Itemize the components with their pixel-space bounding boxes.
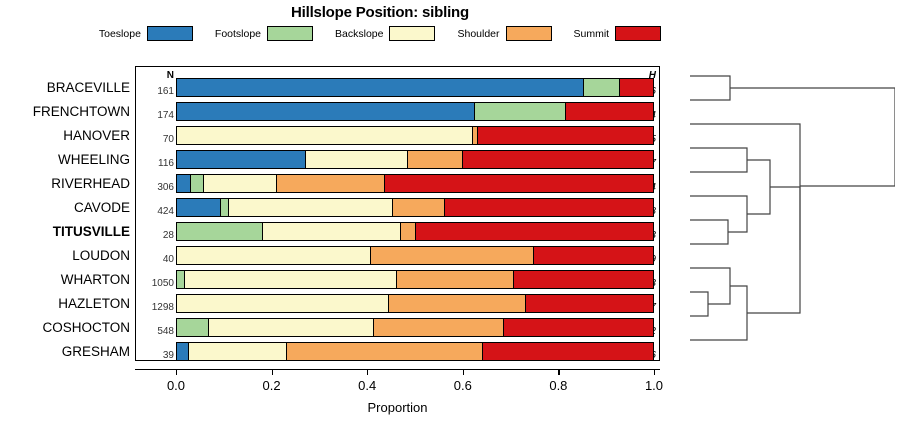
legend-label: Summit	[574, 28, 610, 40]
stacked-bar-frenchtown[interactable]	[176, 102, 654, 121]
bar-segment-shoulder[interactable]	[276, 175, 385, 192]
x-axis-line	[135, 369, 660, 370]
bar-segment-footslope[interactable]	[474, 103, 565, 120]
bar-segment-backslope[interactable]	[262, 223, 400, 240]
bar-segment-backslope[interactable]	[228, 199, 392, 216]
row-label-titusville: TITUSVILLE	[0, 225, 130, 239]
row-n-value: 116	[141, 158, 174, 169]
row-label-wheeling: WHEELING	[0, 153, 130, 167]
row-label-loudon: LOUDON	[0, 249, 130, 263]
bar-segment-summit[interactable]	[415, 223, 653, 240]
bar-segment-backslope[interactable]	[305, 151, 407, 168]
bar-segment-backslope[interactable]	[188, 343, 285, 360]
bar-segment-shoulder[interactable]	[392, 199, 444, 216]
legend-item-shoulder[interactable]: Shoulder	[457, 26, 551, 41]
bar-segment-summit[interactable]	[477, 127, 653, 144]
stacked-bar-coshocton[interactable]	[176, 318, 654, 337]
stacked-bar-cavode[interactable]	[176, 198, 654, 217]
bar-segment-toeslope[interactable]	[177, 343, 188, 360]
row-n-value: 174	[141, 110, 174, 121]
bar-segment-backslope[interactable]	[177, 127, 472, 144]
bar-segment-shoulder[interactable]	[396, 271, 513, 288]
bar-segment-footslope[interactable]	[583, 79, 620, 96]
bar-segment-summit[interactable]	[525, 295, 653, 312]
row-n-value: 1050	[141, 278, 174, 289]
row-n-value: 1298	[141, 302, 174, 313]
bar-segment-summit[interactable]	[513, 271, 653, 288]
bar-segment-toeslope[interactable]	[177, 79, 583, 96]
bar-segment-summit[interactable]	[462, 151, 653, 168]
x-tick	[272, 369, 273, 375]
row-label-hazleton: HAZLETON	[0, 297, 130, 311]
bar-segment-toeslope[interactable]	[177, 151, 305, 168]
row-label-hanover: HANOVER	[0, 129, 130, 143]
stacked-bar-loudon[interactable]	[176, 246, 654, 265]
legend-swatch-toeslope	[147, 26, 193, 41]
row-n-value: 39	[141, 350, 174, 361]
bar-segment-summit[interactable]	[384, 175, 653, 192]
legend-swatch-footslope	[267, 26, 313, 41]
legend-item-summit[interactable]: Summit	[574, 26, 662, 41]
bar-segment-summit[interactable]	[565, 103, 653, 120]
legend-item-footslope[interactable]: Footslope	[215, 26, 313, 41]
stacked-bar-braceville[interactable]	[176, 78, 654, 97]
x-tick-label: 0.8	[533, 378, 583, 393]
x-tick	[176, 369, 177, 375]
stacked-bar-wheeling[interactable]	[176, 150, 654, 169]
legend-label: Backslope	[335, 28, 383, 40]
bar-segment-summit[interactable]	[482, 343, 653, 360]
legend: ToeslopeFootslopeBackslopeShoulderSummit	[0, 26, 760, 41]
dendrogram-svg	[690, 66, 895, 361]
x-tick-label: 0.4	[342, 378, 392, 393]
bar-segment-footslope[interactable]	[177, 223, 262, 240]
legend-label: Shoulder	[457, 28, 499, 40]
legend-swatch-summit	[615, 26, 661, 41]
stacked-bar-hanover[interactable]	[176, 126, 654, 145]
page-title: Hillslope Position: sibling	[0, 4, 760, 21]
bar-segment-backslope[interactable]	[184, 271, 396, 288]
bar-segment-shoulder[interactable]	[370, 247, 533, 264]
legend-label: Toeslope	[99, 28, 141, 40]
legend-swatch-backslope	[389, 26, 435, 41]
row-n-value: 161	[141, 86, 174, 97]
bar-segment-summit[interactable]	[444, 199, 652, 216]
row-label-frenchtown: FRENCHTOWN	[0, 105, 130, 119]
bar-segment-footslope[interactable]	[177, 319, 208, 336]
bar-segment-toeslope[interactable]	[177, 175, 190, 192]
row-n-value: 424	[141, 206, 174, 217]
x-tick	[463, 369, 464, 375]
x-tick	[367, 369, 368, 375]
bar-segment-toeslope[interactable]	[177, 199, 220, 216]
row-label-riverhead: RIVERHEAD	[0, 177, 130, 191]
legend-item-backslope[interactable]: Backslope	[335, 26, 435, 41]
bar-segment-backslope[interactable]	[177, 295, 388, 312]
row-n-value: 40	[141, 254, 174, 265]
bar-segment-toeslope[interactable]	[177, 103, 474, 120]
legend-item-toeslope[interactable]: Toeslope	[99, 26, 193, 41]
row-label-cavode: CAVODE	[0, 201, 130, 215]
bar-segment-backslope[interactable]	[177, 247, 370, 264]
bar-segment-shoulder[interactable]	[388, 295, 525, 312]
row-n-value: 70	[141, 134, 174, 145]
stacked-bar-riverhead[interactable]	[176, 174, 654, 193]
row-n-value: 28	[141, 230, 174, 241]
x-axis-label: Proportion	[135, 400, 660, 415]
bar-segment-summit[interactable]	[619, 79, 653, 96]
row-label-gresham: GRESHAM	[0, 345, 130, 359]
stacked-bar-titusville[interactable]	[176, 222, 654, 241]
bar-segment-shoulder[interactable]	[407, 151, 462, 168]
x-tick-label: 0.6	[438, 378, 488, 393]
bar-segment-backslope[interactable]	[208, 319, 373, 336]
stacked-bar-wharton[interactable]	[176, 270, 654, 289]
column-header-n: N	[141, 70, 174, 81]
row-label-braceville: BRACEVILLE	[0, 81, 130, 95]
bar-segment-summit[interactable]	[533, 247, 653, 264]
row-label-coshocton: COSHOCTON	[0, 321, 130, 335]
row-n-value: 306	[141, 182, 174, 193]
x-tick-label: 0.0	[151, 378, 201, 393]
bar-segment-backslope[interactable]	[203, 175, 275, 192]
row-label-wharton: WHARTON	[0, 273, 130, 287]
x-tick-label: 1.0	[629, 378, 679, 393]
bar-segment-footslope[interactable]	[220, 199, 228, 216]
bar-segment-shoulder[interactable]	[286, 343, 482, 360]
legend-label: Footslope	[215, 28, 261, 40]
bar-segment-shoulder[interactable]	[400, 223, 415, 240]
bar-segment-footslope[interactable]	[177, 271, 184, 288]
hillslope-position-chart: Hillslope Position: sibling ToeslopeFoot…	[0, 0, 900, 440]
dendrogram	[690, 66, 895, 361]
legend-swatch-shoulder	[506, 26, 552, 41]
bar-segment-footslope[interactable]	[190, 175, 203, 192]
stacked-bar-gresham[interactable]	[176, 342, 654, 361]
stacked-bar-hazleton[interactable]	[176, 294, 654, 313]
bar-segment-shoulder[interactable]	[373, 319, 502, 336]
row-n-value: 548	[141, 326, 174, 337]
x-tick	[654, 369, 655, 375]
bar-segment-summit[interactable]	[503, 319, 653, 336]
x-tick	[558, 369, 559, 375]
x-tick-label: 0.2	[247, 378, 297, 393]
